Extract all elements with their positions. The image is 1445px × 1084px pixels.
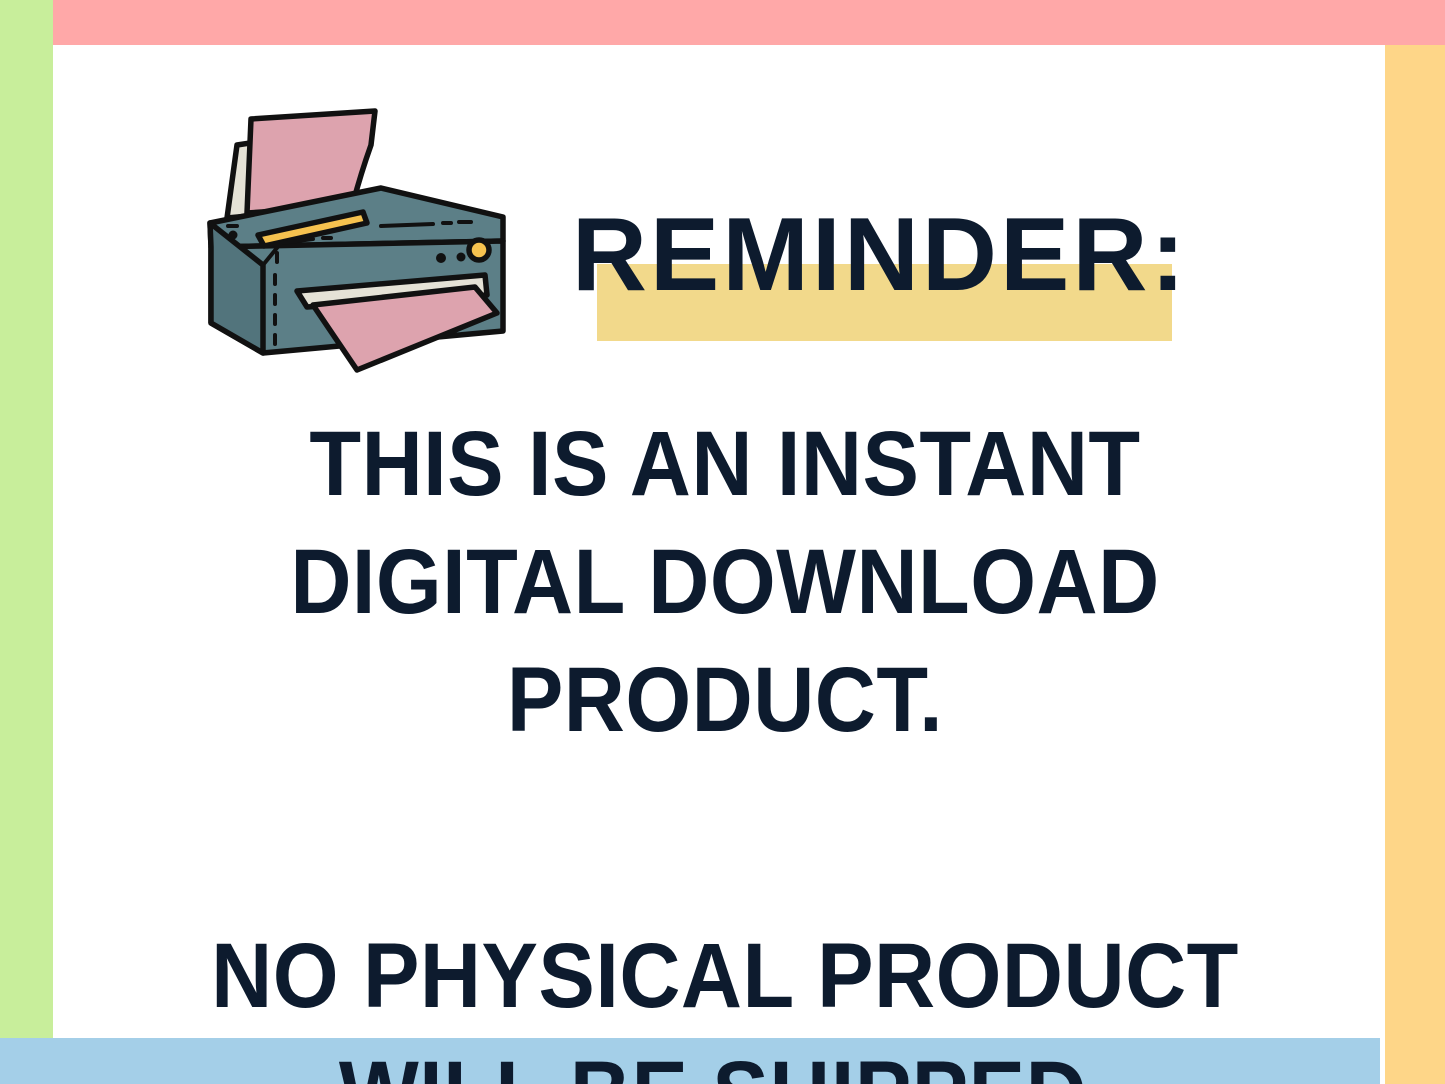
body-copy: THIS IS AN INSTANT DIGITAL DOWNLOAD PROD…: [110, 405, 1340, 1084]
page-title: REMINDER:: [560, 196, 1200, 314]
heading-block: REMINDER:: [560, 196, 1200, 346]
body-paragraph-2: NO PHYSICAL PRODUCT WILL BE SHIPPED.: [159, 917, 1291, 1084]
left-color-band: [0, 0, 53, 1038]
printer-icon: [185, 95, 545, 380]
poster-canvas: REMINDER: THIS IS AN INSTANT DIGITAL DOW…: [0, 0, 1445, 1084]
top-color-band: [53, 0, 1445, 45]
right-color-band: [1385, 45, 1445, 1084]
paragraph-spacer: [110, 759, 1340, 917]
body-paragraph-1: THIS IS AN INSTANT DIGITAL DOWNLOAD PROD…: [159, 405, 1291, 759]
